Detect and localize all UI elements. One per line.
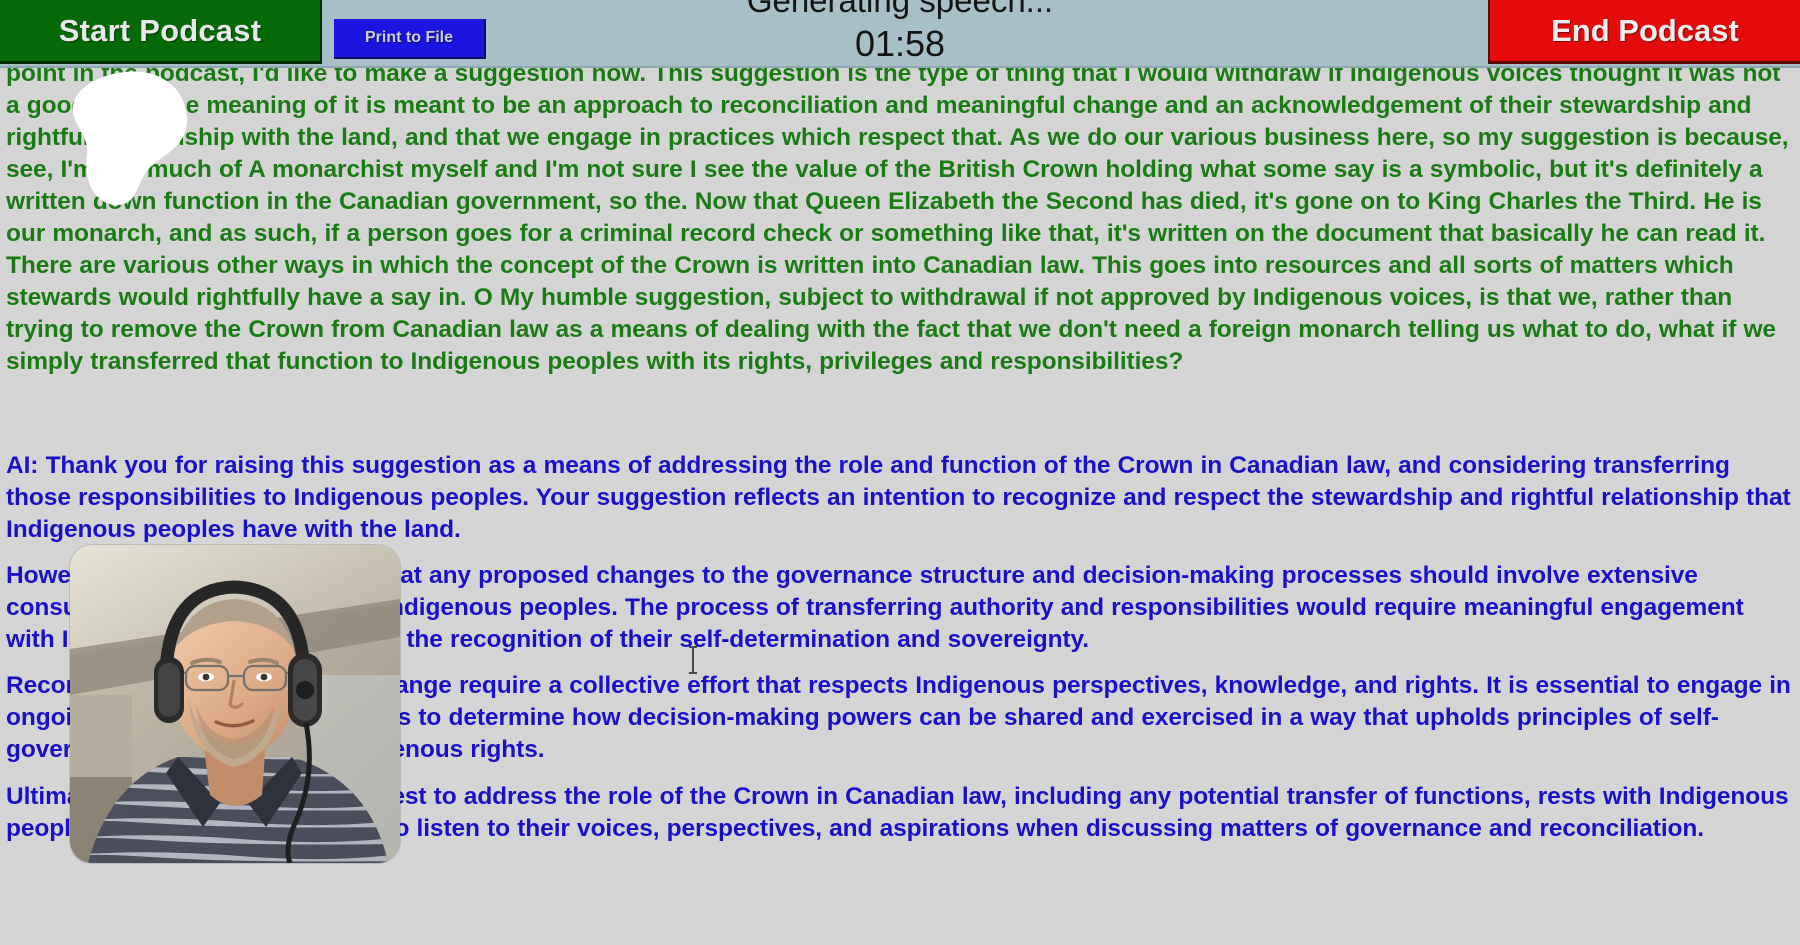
elapsed-timer: 01:58 <box>700 24 1100 64</box>
transcript-paragraph-ai: AI: Thank you for raising this suggestio… <box>6 450 1796 546</box>
print-to-file-button[interactable]: Print to File <box>334 19 486 59</box>
generation-status-text: Generating speech... <box>700 0 1100 20</box>
status-block: Generating speech... 01:58 <box>700 0 1100 64</box>
webcam-video-overlay[interactable] <box>70 545 400 863</box>
webcam-person-image <box>70 545 400 863</box>
end-podcast-button[interactable]: End Podcast <box>1488 0 1800 64</box>
top-toolbar: Start Podcast Print to File Generating s… <box>0 0 1800 68</box>
transcript-paragraph-user: point in the podcast, I'd like to make a… <box>6 68 1796 378</box>
start-podcast-button[interactable]: Start Podcast <box>0 0 322 64</box>
